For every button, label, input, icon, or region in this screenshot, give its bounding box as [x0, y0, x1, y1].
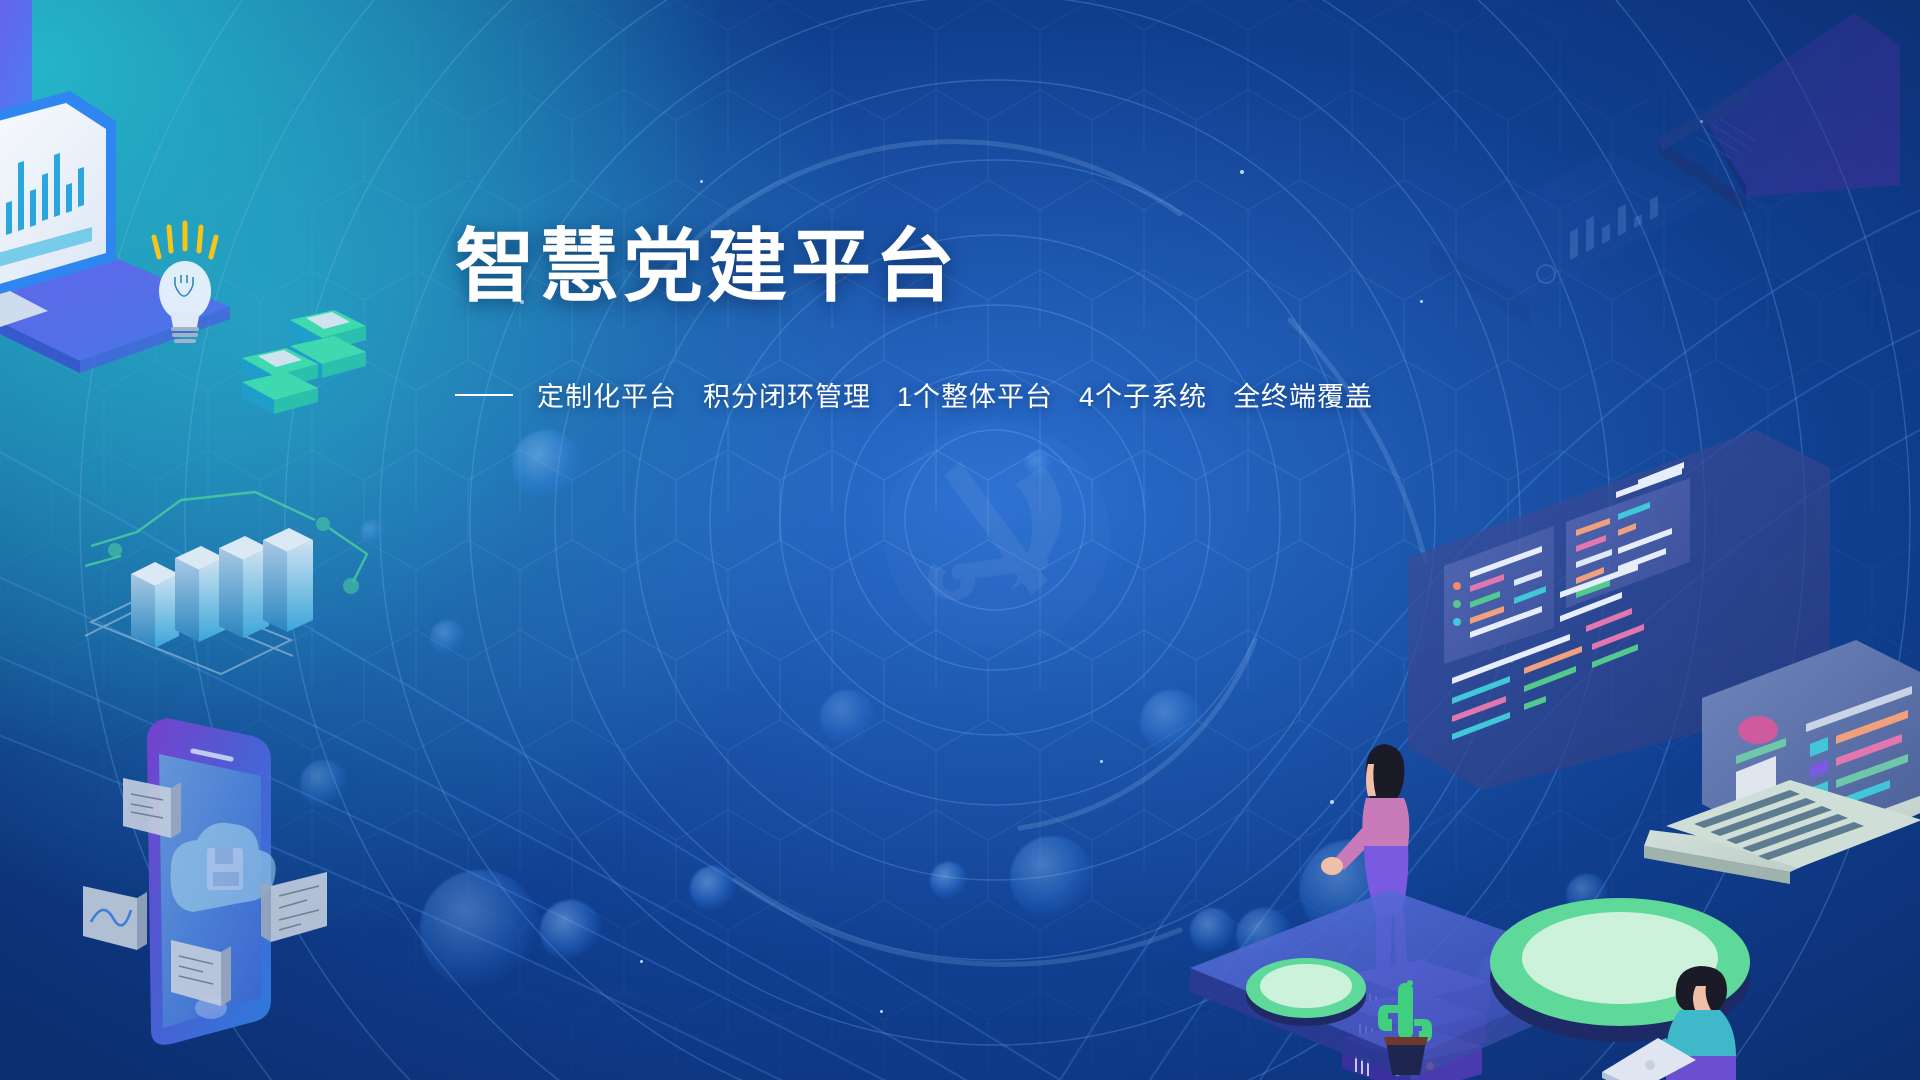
- subtitle-segment-2: 积分闭环管理: [703, 382, 871, 412]
- subtitle-segment-4: 4个子系统: [1079, 382, 1207, 412]
- subtitle-segment-1: 定制化平台: [537, 382, 677, 412]
- subtitle-text: 定制化平台积分闭环管理1个整体平台4个子系统全终端覆盖: [537, 375, 1373, 414]
- server-stack-icon: [238, 310, 368, 430]
- laptop-icon: [1640, 640, 1920, 900]
- floating-chart-card: [1420, 150, 1720, 380]
- lightbulb-icon: [140, 215, 230, 345]
- smartphone-icon: [75, 700, 335, 1080]
- subtitle-dash-icon: [455, 394, 513, 396]
- subtitle-segment-3: 1个整体平台: [897, 382, 1053, 412]
- bar-chart-3d-icon: [85, 470, 375, 680]
- page-title: 智慧党建平台: [455, 225, 1373, 309]
- hero-text-block: 智慧党建平台 定制化平台积分闭环管理1个整体平台4个子系统全终端覆盖: [455, 225, 1373, 414]
- hammer-sickle-party-emblem: [882, 420, 1112, 650]
- subtitle-segment-5: 全终端覆盖: [1233, 382, 1373, 412]
- hero-banner: 智慧党建平台 定制化平台积分闭环管理1个整体平台4个子系统全终端覆盖: [0, 0, 1920, 1080]
- person-with-laptop-icon: [1600, 960, 1790, 1080]
- cactus-plant-icon: [1370, 975, 1440, 1080]
- subtitle-row: 定制化平台积分闭环管理1个整体平台4个子系统全终端覆盖: [455, 375, 1373, 414]
